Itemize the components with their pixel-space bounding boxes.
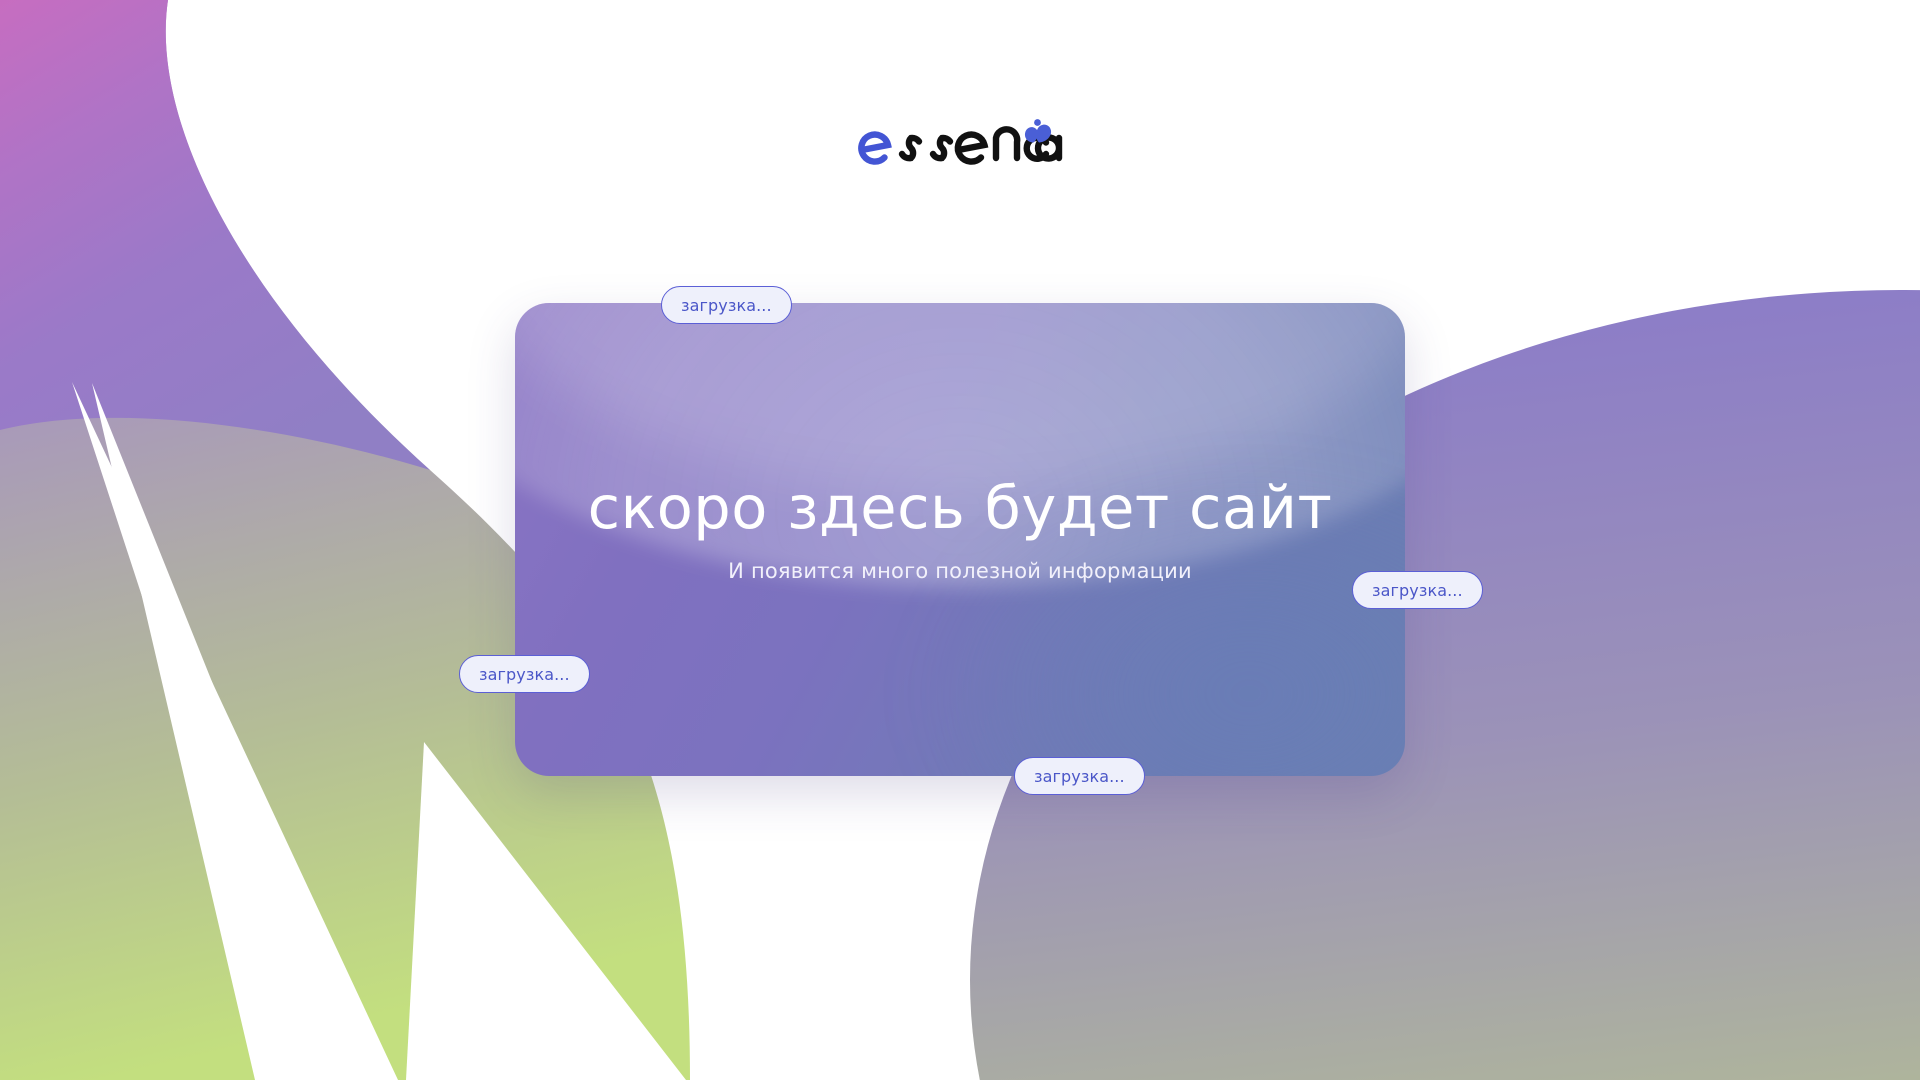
- landing-page: скоро здесь будет сайт И появится много …: [0, 0, 1920, 1080]
- loading-badge: загрузка...: [661, 286, 792, 324]
- brand-logo[interactable]: [0, 118, 1920, 174]
- essencia-logo-icon: [857, 118, 1063, 174]
- loading-badge: загрузка...: [1352, 571, 1483, 609]
- logo-mark: [857, 118, 1063, 174]
- coming-soon-card: скоро здесь будет сайт И появится много …: [515, 303, 1405, 776]
- loading-badge: загрузка...: [459, 655, 590, 693]
- page-title: скоро здесь будет сайт: [588, 478, 1333, 538]
- card-content: скоро здесь будет сайт И появится много …: [515, 303, 1405, 776]
- page-subtitle: И появится много полезной информации: [728, 559, 1192, 583]
- butterfly-icon: [1025, 119, 1051, 142]
- loading-badge: загрузка...: [1014, 757, 1145, 795]
